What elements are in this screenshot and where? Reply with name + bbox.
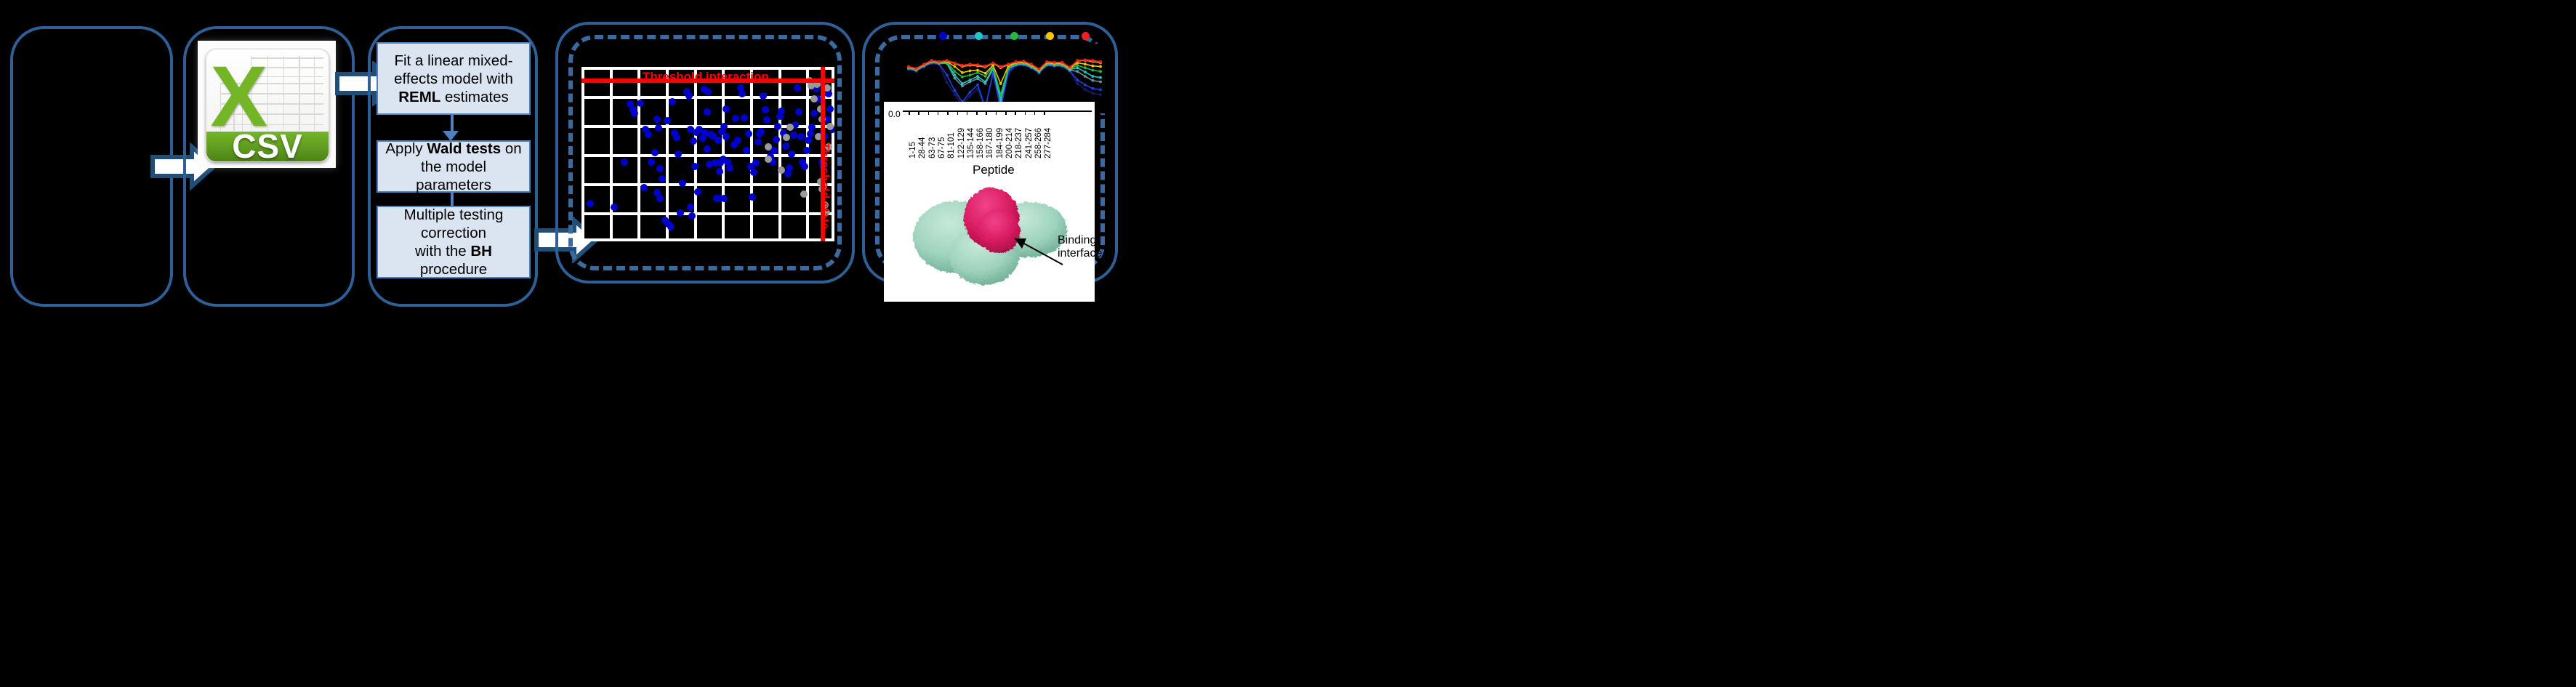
volcano-point <box>715 137 722 144</box>
volcano-point <box>805 137 812 144</box>
volcano-point <box>631 110 638 117</box>
connector-1 <box>451 115 454 132</box>
bh-correction-box[interactable]: Multiple testing correction with the BH … <box>377 206 531 278</box>
volcano-point <box>783 134 790 141</box>
volcano-point <box>704 88 712 95</box>
legend-dot-green <box>1010 32 1018 40</box>
wald-pre: Apply <box>385 140 427 157</box>
pipeline-diagram: X CSV Fit a linear mixed- effects model … <box>0 0 2576 687</box>
volcano-point <box>778 166 785 174</box>
csv-file-icon[interactable]: X CSV <box>198 41 336 168</box>
wald-bold: Wald tests <box>427 140 501 157</box>
bh-line3-pre: with the <box>415 243 470 260</box>
volcano-frame <box>581 238 834 241</box>
volcano-point <box>790 132 797 139</box>
volcano-point <box>810 95 818 103</box>
csv-icon-body: X CSV <box>206 49 329 162</box>
volcano-gridline-h <box>581 96 834 99</box>
bh-line3-post: procedure <box>420 261 487 278</box>
wald-post: on <box>501 140 522 157</box>
volcano-point <box>734 137 741 144</box>
volcano-point <box>690 137 697 145</box>
volcano-point <box>716 168 723 175</box>
peptide-chart-legend <box>895 32 1106 42</box>
volcano-point <box>720 195 728 202</box>
fit-model-estimates: estimates <box>440 89 508 105</box>
volcano-point <box>677 209 684 217</box>
volcano-point <box>741 114 748 121</box>
volcano-point <box>773 136 780 143</box>
volcano-point <box>667 223 675 230</box>
fit-model-reml: REML <box>398 89 440 105</box>
volcano-point <box>782 142 789 150</box>
threshold-interaction-label: Threshold interaction <box>643 70 769 84</box>
volcano-point <box>797 133 805 140</box>
volcano-point <box>640 184 648 191</box>
bh-line2: correction <box>421 225 486 241</box>
volcano-point <box>587 200 594 207</box>
volcano-point <box>651 149 659 156</box>
volcano-point <box>717 159 724 166</box>
volcano-point <box>743 147 750 154</box>
volcano-point <box>704 108 711 116</box>
volcano-point <box>750 169 757 176</box>
volcano-point <box>691 163 699 170</box>
volcano-point <box>765 156 772 163</box>
volcano-point <box>826 123 834 130</box>
volcano-point <box>800 190 808 198</box>
volcano-point <box>757 128 765 135</box>
legend-dot-blue <box>939 32 947 40</box>
volcano-point <box>763 116 770 124</box>
csv-excel-x-letter: X <box>210 54 254 110</box>
volcano-point <box>673 134 680 141</box>
volcano-point <box>808 124 816 131</box>
volcano-point <box>723 105 730 113</box>
volcano-frame <box>832 67 834 241</box>
fit-model-box[interactable]: Fit a linear mixed- effects model with R… <box>377 42 531 115</box>
bh-line1: Multiple testing <box>404 206 504 223</box>
volcano-point <box>669 98 676 105</box>
binding-interface-callout: Binding interface <box>1058 234 1102 261</box>
legend-dot-cyan <box>975 32 983 40</box>
peptide-chart-ytick: 0.0 <box>888 109 901 119</box>
volcano-point <box>732 115 739 122</box>
csv-format-band: CSV <box>206 132 328 161</box>
volcano-gridline-h <box>581 183 834 186</box>
volcano-point <box>653 189 661 196</box>
volcano-point <box>770 147 778 154</box>
volcano-frame <box>581 67 584 241</box>
volcano-point <box>752 159 760 166</box>
volcano-point <box>655 124 662 132</box>
volcano-point <box>687 204 694 211</box>
fit-model-line2: effects model with <box>394 71 513 87</box>
volcano-point <box>795 108 802 116</box>
volcano-point <box>762 106 769 113</box>
wald-tests-box[interactable]: Apply Wald tests on the model parameters <box>377 140 531 193</box>
volcano-gridline-h <box>581 212 834 215</box>
volcano-point <box>807 130 814 137</box>
protein-surface-image <box>906 180 1073 293</box>
volcano-point <box>745 130 752 137</box>
volcano-point <box>664 117 671 124</box>
peptide-axis-label: Peptide <box>973 163 1015 177</box>
volcano-point <box>774 123 781 130</box>
volcano-gridline-h <box>581 154 834 157</box>
volcano-point <box>611 204 618 211</box>
volcano-point <box>726 164 733 172</box>
volcano-scatter-plot[interactable] <box>581 67 834 241</box>
fit-model-line1: Fit a linear mixed- <box>395 52 513 69</box>
volcano-point <box>637 100 644 107</box>
volcano-point <box>794 84 801 92</box>
legend-dot-red <box>1082 32 1090 40</box>
volcano-point <box>659 175 666 182</box>
volcano-point <box>704 145 711 153</box>
volcano-point <box>723 133 730 140</box>
volcano-point <box>786 164 793 172</box>
volcano-point <box>754 138 762 145</box>
volcano-point <box>765 143 772 150</box>
volcano-point <box>653 116 661 123</box>
volcano-point <box>685 92 693 100</box>
volcano-point <box>749 193 756 201</box>
legend-dot-yellow <box>1046 32 1054 40</box>
volcano-point <box>778 108 785 115</box>
volcano-point <box>786 124 794 131</box>
wald-line2: the model parameters <box>416 158 491 193</box>
volcano-point <box>788 150 795 158</box>
volcano-point <box>826 105 834 113</box>
empty-panel <box>10 26 173 307</box>
bh-bold: BH <box>470 243 492 260</box>
volcano-point <box>656 165 664 172</box>
volcano-point <box>803 147 810 154</box>
threshold-state-label: Threshold state <box>818 142 831 229</box>
volcano-point <box>801 163 808 170</box>
volcano-point <box>720 123 728 130</box>
volcano-point <box>694 188 701 196</box>
volcano-point <box>648 158 655 166</box>
volcano-point <box>645 131 652 138</box>
volcano-point <box>621 158 628 166</box>
